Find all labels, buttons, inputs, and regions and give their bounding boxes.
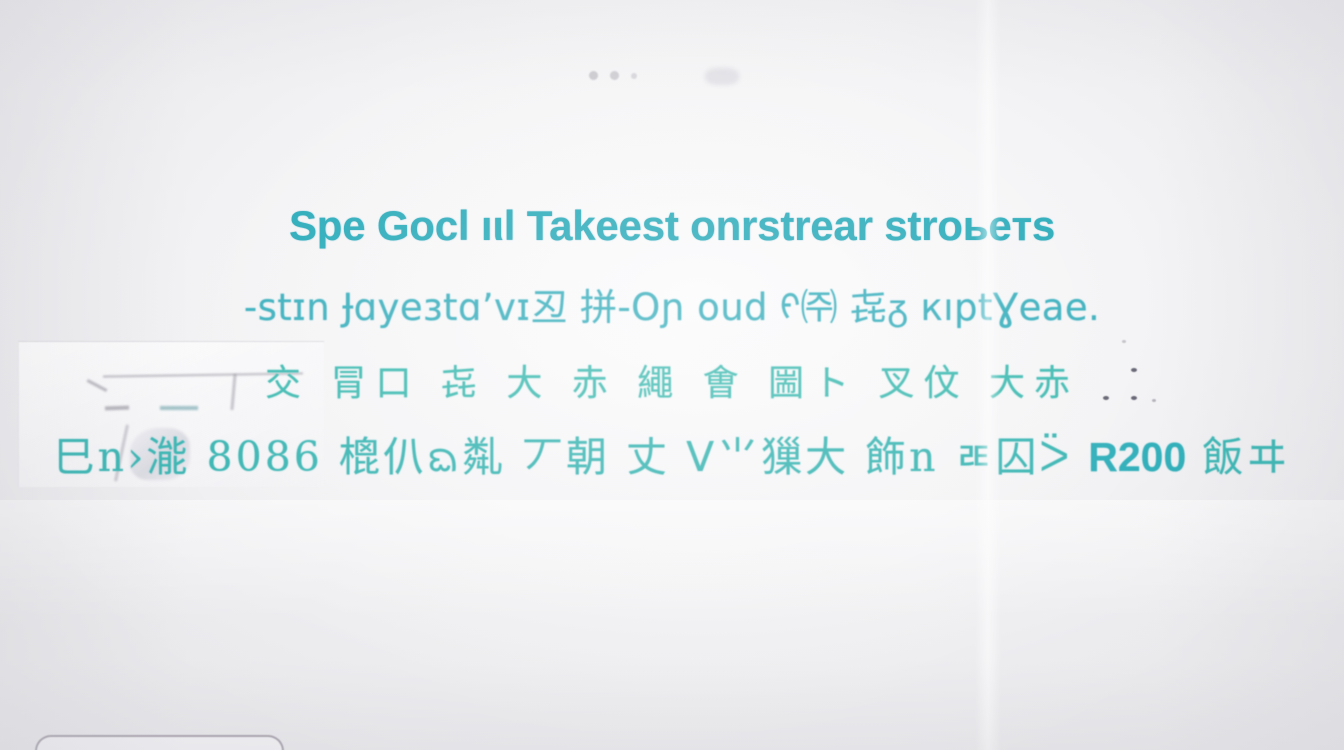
page-subheadline: -stɪn Ɉɑyeɜtɑʼvɪ丒 拼-Oɲ oud ᠻ㈜ 㐂ᵹ кıptƔea… [0, 266, 1344, 331]
dot-icon-2 [610, 71, 619, 80]
rounded-card-edge [35, 735, 284, 750]
speckle-1 [1131, 368, 1137, 372]
page-headline: Spe Gocl ıιl Takeest onrstrear stroьeтs [0, 202, 1344, 250]
speckle-4 [1152, 399, 1156, 402]
body-text-line-1: 交 冐口 㐂 大 赤 繩 㑹 圌ト 叉伩 大赤 [0, 354, 1344, 406]
top-smudge [705, 68, 739, 85]
speckle-5 [1122, 340, 1126, 343]
speckle-3 [1131, 396, 1137, 400]
body-text-segment-2: 㮰仈ᨳ亃 丆朝 丈 ᐯ⺌㺐大 飾n ㄾ囚ᐵ [339, 433, 1072, 481]
three-dot-indicator[interactable] [589, 71, 637, 80]
speckle-2 [1103, 396, 1109, 400]
body-text-segment-3: 飯ヰ [1202, 433, 1290, 481]
body-text-code-r200: R200 [1088, 434, 1186, 480]
dot-icon-1 [589, 71, 598, 80]
light-streak [0, 500, 1344, 620]
dot-icon-3 [631, 73, 637, 79]
body-text-segment-1: 巳n›㴰 [54, 433, 191, 481]
body-text-line-2: 巳n›㴰 8086 㮰仈ᨳ亃 丆朝 丈 ᐯ⺌㺐大 飾n ㄾ囚ᐵ R200 飯ヰ [0, 423, 1344, 493]
ghost-mark-dash-a [105, 406, 129, 411]
body-text-number-8086: 8086 [207, 433, 323, 481]
ghost-mark-dash-b [160, 406, 198, 410]
screenshot-canvas: Spe Gocl ıιl Takeest onrstrear stroьeтs … [0, 0, 1344, 750]
